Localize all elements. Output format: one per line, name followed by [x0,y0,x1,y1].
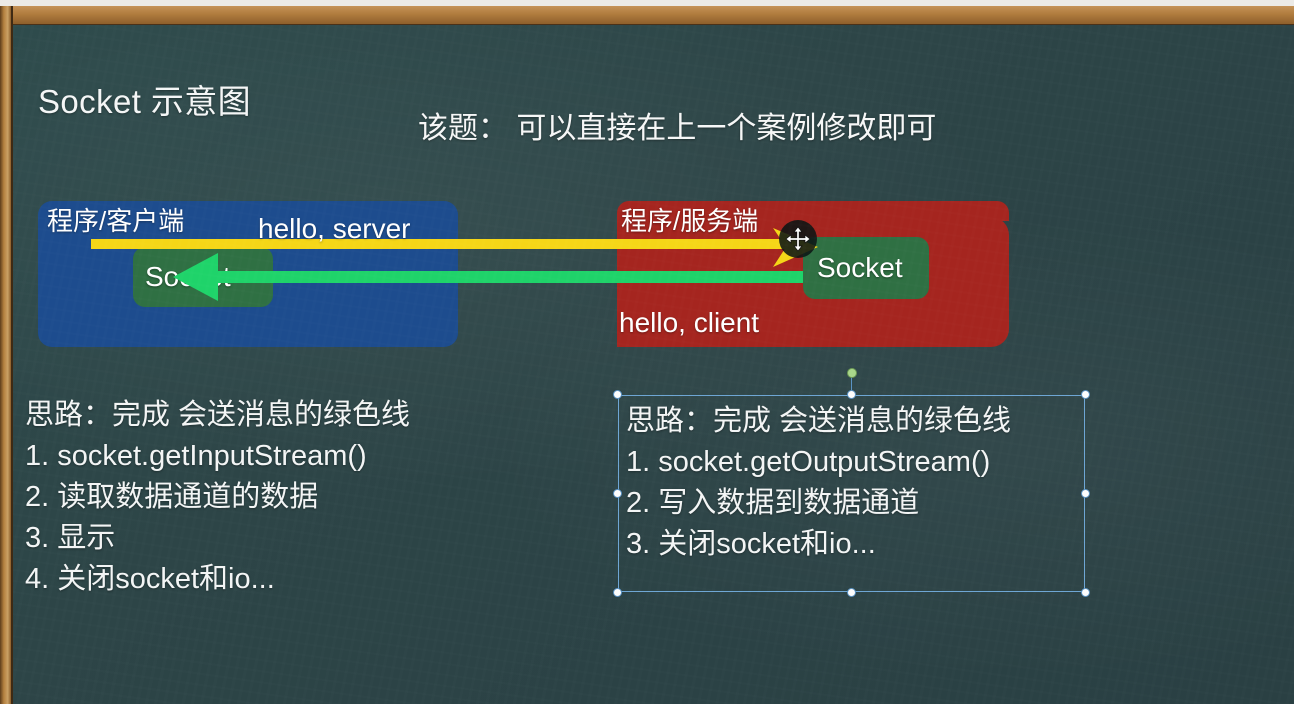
four-way-arrow-glyph [785,226,811,252]
notes-right[interactable]: 思路：完成 会送消息的绿色线 1. socket.getOutputStream… [626,401,1011,565]
slide-stage: Socket 示意图 该题： 可以直接在上一个案例修改即可 程序/客户端 程序/… [0,0,1294,704]
resize-handle-top-left[interactable] [613,390,622,399]
notes-right-step: 3. 关闭socket和io... [626,524,1011,565]
resize-handle-middle-right[interactable] [1081,489,1090,498]
server-program-label: 程序/服务端 [621,201,758,238]
chalkboard-frame-left [0,6,13,704]
client-socket-label: Socket [145,261,231,293]
server-socket-box[interactable]: Socket [803,237,929,299]
rotate-handle[interactable] [847,368,857,378]
client-program-label: 程序/客户端 [47,201,184,238]
chalkboard-frame-top [0,6,1294,26]
resize-handle-top-center[interactable] [847,390,856,399]
resize-handle-bottom-center[interactable] [847,588,856,597]
resize-handle-bottom-right[interactable] [1081,588,1090,597]
client-socket-box[interactable]: Socket [133,247,273,307]
slide-subtitle: 该题： 可以直接在上一个案例修改即可 [418,103,936,147]
notes-left-step: 4. 关闭socket和io... [25,559,410,600]
resize-handle-top-right[interactable] [1081,390,1090,399]
move-cursor-icon [779,220,817,258]
notes-right-heading: 思路：完成 会送消息的绿色线 [626,401,1011,442]
notes-left-step: 3. 显示 [25,518,410,559]
notes-left-heading: 思路：完成 会送消息的绿色线 [25,395,410,436]
server-socket-label: Socket [817,252,903,284]
notes-left-step: 1. socket.getInputStream() [25,436,410,477]
resize-handle-middle-left[interactable] [613,489,622,498]
notes-left-step: 2. 读取数据通道的数据 [25,477,410,518]
message-to-server-label: hello, server [258,213,411,245]
notes-right-step: 1. socket.getOutputStream() [626,442,1011,483]
page-title: Socket 示意图 [38,75,251,123]
notes-right-selection[interactable]: 思路：完成 会送消息的绿色线 1. socket.getOutputStream… [618,395,1085,592]
notes-right-step: 2. 写入数据到数据通道 [626,483,1011,524]
notes-left: 思路：完成 会送消息的绿色线 1. socket.getInputStream(… [25,395,410,600]
message-to-client-label: hello, client [619,307,759,339]
chalkboard-surface: Socket 示意图 该题： 可以直接在上一个案例修改即可 程序/客户端 程序/… [13,25,1294,704]
resize-handle-bottom-left[interactable] [613,588,622,597]
